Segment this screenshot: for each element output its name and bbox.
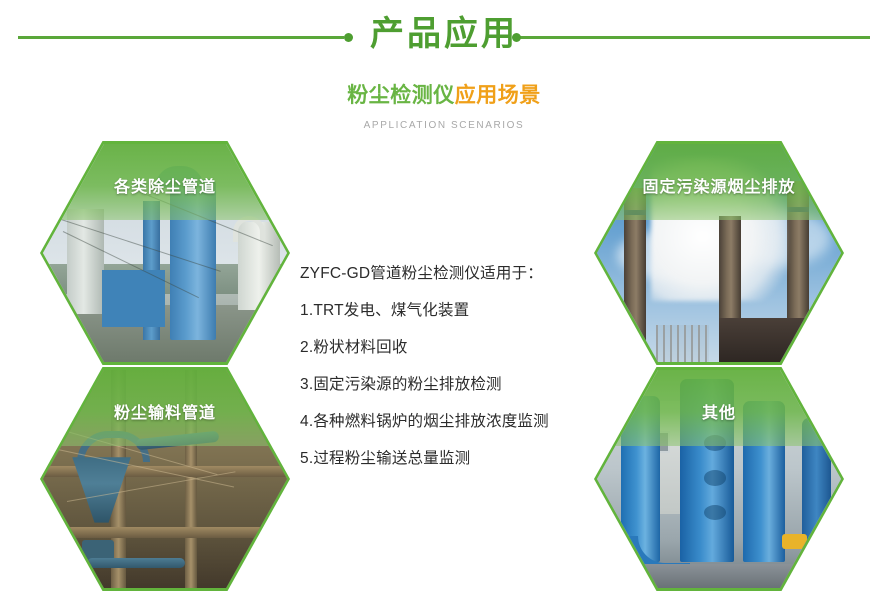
scenario-label-powder-conveying-pipes: 粉尘输料管道	[43, 370, 287, 446]
hex-inner: 粉尘输料管道	[43, 370, 287, 588]
scenario-card-stationary-pollution-source[interactable]: 固定污染源烟尘排放	[594, 141, 844, 365]
application-text-block: ZYFC-GD管道粉尘检测仪适用于： 1.TRT发电、煤气化装置 2.粉状材料回…	[300, 255, 600, 477]
hex-inner: 固定污染源烟尘排放	[597, 144, 841, 362]
english-subtitle: APPLICATION SCENARIOS	[0, 120, 888, 131]
application-item: 4.各种燃料锅炉的烟尘排放浓度监测	[300, 403, 600, 440]
page-title: 产品应用	[0, 8, 888, 60]
sub-title: 粉尘检测仪应用场景	[0, 82, 888, 110]
scenario-label-other: 其他	[597, 370, 841, 446]
scenario-card-other[interactable]: 其他	[594, 367, 844, 591]
application-item: 2.粉状材料回收	[300, 329, 600, 366]
application-item: 1.TRT发电、煤气化装置	[300, 292, 600, 329]
hex-inner: 其他	[597, 370, 841, 588]
application-item: 5.过程粉尘输送总量监测	[300, 440, 600, 477]
scenario-card-dedusting-ducts[interactable]: 各类除尘管道	[40, 141, 290, 365]
sub-title-scenario: 应用场景	[455, 84, 541, 107]
product-application-section: 产品应用 粉尘检测仪应用场景 APPLICATION SCENARIOS	[0, 0, 888, 605]
application-intro: ZYFC-GD管道粉尘检测仪适用于：	[300, 255, 600, 292]
sub-title-product: 粉尘检测仪	[347, 84, 455, 107]
scenario-card-powder-conveying-pipes[interactable]: 粉尘输料管道	[40, 367, 290, 591]
section-header: 产品应用 粉尘检测仪应用场景 APPLICATION SCENARIOS	[0, 0, 888, 140]
hex-inner: 各类除尘管道	[43, 144, 287, 362]
application-item: 3.固定污染源的粉尘排放检测	[300, 366, 600, 403]
scenario-label-stationary-pollution-source: 固定污染源烟尘排放	[597, 144, 841, 220]
scenario-label-dedusting-ducts: 各类除尘管道	[43, 144, 287, 220]
